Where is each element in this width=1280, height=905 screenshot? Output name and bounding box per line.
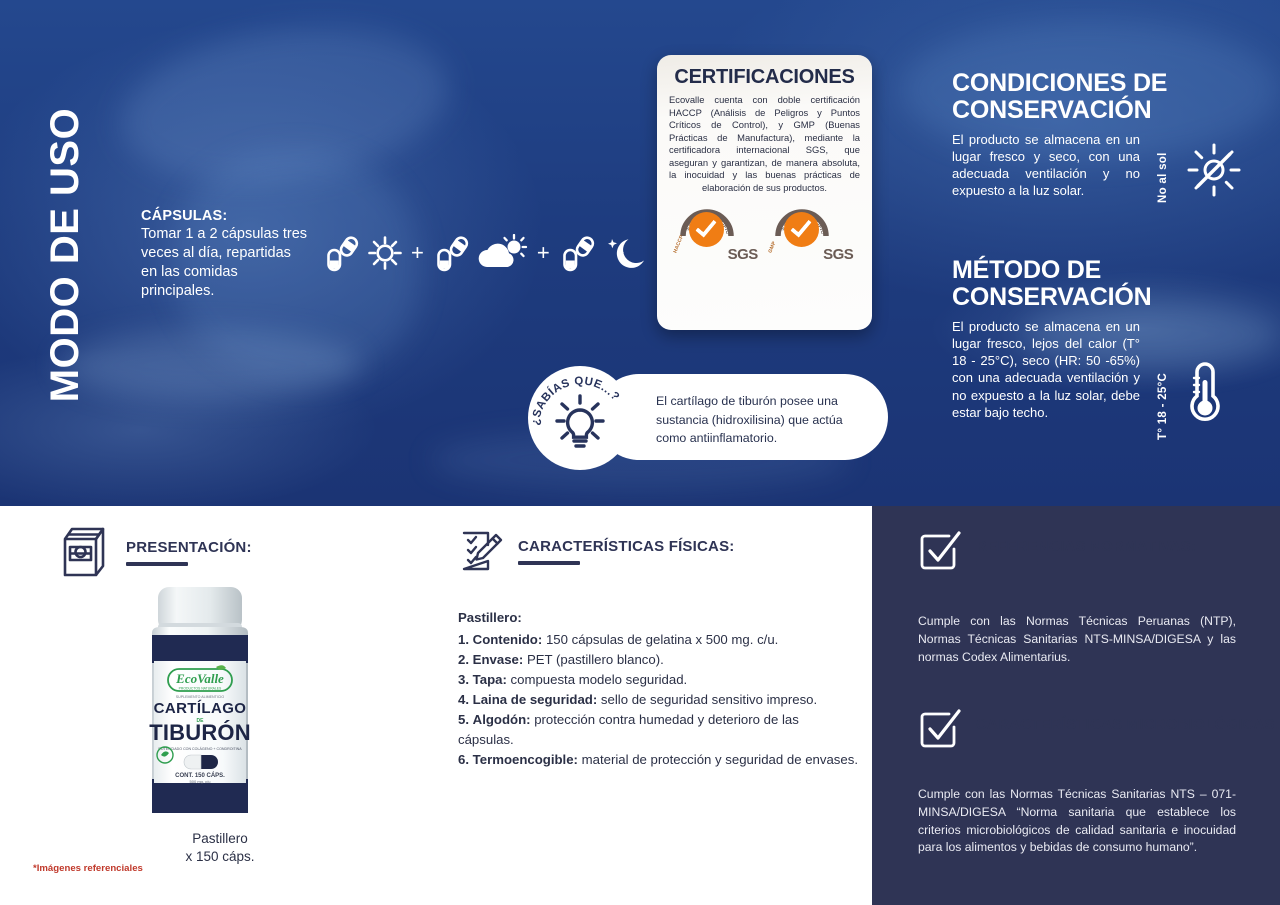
caracteristicas-underline [518,561,580,565]
sgs-wordmark: SGS [823,246,853,263]
certificaciones-card: CERTIFICACIONES Ecovalle cuenta con dobl… [657,55,872,330]
certificaciones-title: CERTIFICACIONES [669,66,860,89]
sgs-haccp-logo: SYSTEM CERTIFICATION HACCP SGS [676,201,758,263]
caracteristicas-label-wrap: CARACTERÍSTICAS FÍSICAS: [518,538,734,565]
no-sun-icon [1186,142,1242,198]
cf-item-num: 2. [458,652,469,667]
sgs-wordmark: SGS [728,246,758,263]
caracteristicas-fisicas-header: CARACTERÍSTICAS FÍSICAS: [458,527,734,575]
sabias-que-text: El cartílago de tiburón posee una sustan… [656,392,872,448]
referencias-label-wrap: REFERENCIAS NORMATIVAS: [976,538,1196,565]
checkbox-check-icon [918,707,962,751]
checkbox-check-icon [918,529,962,573]
capsule-icon [322,232,364,274]
caracteristicas-microbiologicas-header: CARACTERÍSTICAS MICROBIOLÓGICAS: [918,707,1280,751]
referencias-underline [976,561,1038,565]
footnote-imagenes-referenciales: *Imágenes referenciales [33,863,143,874]
presentacion-label-wrap: PRESENTACIÓN: [126,539,252,566]
cf-item-num: 3. [458,672,469,687]
svg-text:EcoValle: EcoValle [175,671,224,686]
cf-item-term: Contenido: [473,632,543,647]
shark-silhouette [60,330,360,400]
bottle-graphic: EcoValle PRODUCTOS NATURALES SUPLEMENTO … [120,583,280,823]
cf-lead: Pastillero: [458,608,858,628]
cf-item-num: 5. [458,712,469,727]
product-bottle-image: EcoValle PRODUCTOS NATURALES SUPLEMENTO … [120,583,320,823]
product-info-sheet: MODO DE USO CÁPSULAS: Tomar 1 a 2 cápsul… [0,0,1280,905]
cf-item-num: 6. [458,752,469,767]
metodo-text: El producto se almacena en un lugar fres… [952,318,1140,421]
thermometer-icon [1182,358,1228,428]
cf-item-desc: compuesta modelo seguridad. [511,672,688,687]
shark-silhouette [111,8,459,202]
caracteristicas-fisicas-list: Pastillero: 1. Contenido: 150 cápsulas d… [458,608,858,771]
modo-de-uso-panel: MODO DE USO CÁPSULAS: Tomar 1 a 2 cápsul… [0,0,1280,506]
svg-text:PRODUCTOS NATURALES: PRODUCTOS NATURALES [179,687,222,691]
presentacion-label: PRESENTACIÓN: [126,539,252,556]
capsulas-heading: CÁPSULAS: [141,208,309,224]
cf-item-term: Algodón: [473,712,531,727]
cf-item-num: 1. [458,632,469,647]
moon-stars-icon [603,233,647,273]
modo-de-uso-title: MODO DE USO [45,85,85,425]
plus-sign: + [410,242,425,264]
metodo-conservacion-block: MÉTODO DE CONSERVACIÓN El producto se al… [952,257,1280,421]
presentacion-underline [126,562,188,566]
bottle-caption-line1: Pastillero [120,830,320,848]
sgs-gmp-logo: SYSTEM CERTIFICATION GMP SGS [771,201,853,263]
svg-text:SUPLEMENTO ALIMENTICIO: SUPLEMENTO ALIMENTICIO [176,695,225,699]
dose-morning [322,232,403,274]
microbiologicas-label-wrap: CARACTERÍSTICAS MICROBIOLÓGICAS: [976,716,1280,743]
cf-item-term: Tapa: [473,672,507,687]
sabias-que-callout: ¿SABÍAS QUE...? El cartílago de tiburón … [528,366,888,468]
clipboard-pencil-icon [458,527,504,575]
cf-item-desc: sello de seguridad sensitivo impreso. [601,692,817,707]
cf-item: 4. Laina de seguridad: sello de segurida… [458,690,858,710]
referencias-normativas-header: REFERENCIAS NORMATIVAS: [918,529,1196,573]
svg-text:CONT. 150 CÁPS.: CONT. 150 CÁPS. [175,772,225,779]
caracteristicas-microbiologicas-text: Cumple con las Normas Técnicas Sanitaria… [918,786,1236,857]
cf-item: 5. Algodón: protección contra humedad y … [458,710,858,750]
capsulas-block: CÁPSULAS: Tomar 1 a 2 cápsulas tres vece… [141,208,309,302]
no-al-sol-label: No al sol [1157,133,1169,203]
capsule-icon [558,232,600,274]
cf-item-term: Laina de seguridad: [473,692,598,707]
pouch-bag-icon [56,525,112,579]
cf-item-term: Envase: [473,652,524,667]
condiciones-title: CONDICIONES DE CONSERVACIÓN [952,70,1280,123]
cf-item: 6. Termoencogible: material de protecció… [458,750,858,770]
cf-item-desc: material de protección y seguridad de en… [582,752,858,767]
dosage-icon-row: + [322,232,647,274]
dose-night [558,232,647,274]
cf-item: 1. Contenido: 150 cápsulas de gelatina x… [458,630,858,650]
bottle-caption-line2: x 150 cáps. [120,848,320,866]
referencias-normativas-text: Cumple con las Normas Técnicas Peruanas … [918,613,1236,666]
cloud-sun-icon [477,234,529,272]
svg-text:TIBURÓN: TIBURÓN [149,720,251,745]
temperatura-label: T° 18 - 25°C [1157,340,1169,440]
capsulas-text: Tomar 1 a 2 cápsulas tres veces al día, … [141,225,309,302]
metodo-title: MÉTODO DE CONSERVACIÓN [952,257,1280,310]
cf-item-term: Termoencogible: [473,752,578,767]
cf-item-desc: 150 cápsulas de gelatina x 500 mg. c/u. [546,632,778,647]
svg-text:CARTÍLAGO: CARTÍLAGO [154,700,247,717]
cf-item: 3. Tapa: compuesta modelo seguridad. [458,670,858,690]
dose-afternoon [432,232,529,274]
certification-logos: SYSTEM CERTIFICATION HACCP SGS [669,201,860,263]
caracteristicas-microbiologicas-label: CARACTERÍSTICAS MICROBIOLÓGICAS: [976,716,1280,733]
bottle-caption: Pastillero x 150 cáps. [120,830,320,865]
plus-sign: + [536,242,551,264]
microbiologicas-underline [976,739,1038,743]
cf-item-num: 4. [458,692,469,707]
cf-item-desc: PET (pastillero blanco). [527,652,664,667]
capsule-icon [432,232,474,274]
lightbulb-icon [549,394,611,454]
sun-icon [367,235,403,271]
referencias-normativas-label: REFERENCIAS NORMATIVAS: [976,538,1196,555]
svg-text:500 mg. c/u: 500 mg. c/u [190,779,211,784]
caracteristicas-fisicas-label: CARACTERÍSTICAS FÍSICAS: [518,538,734,555]
certificaciones-text: Ecovalle cuenta con doble certificación … [669,94,860,194]
condiciones-text: El producto se almacena en un lugar fres… [952,131,1140,200]
cf-item: 2. Envase: PET (pastillero blanco). [458,650,858,670]
presentacion-header: PRESENTACIÓN: [56,525,252,579]
